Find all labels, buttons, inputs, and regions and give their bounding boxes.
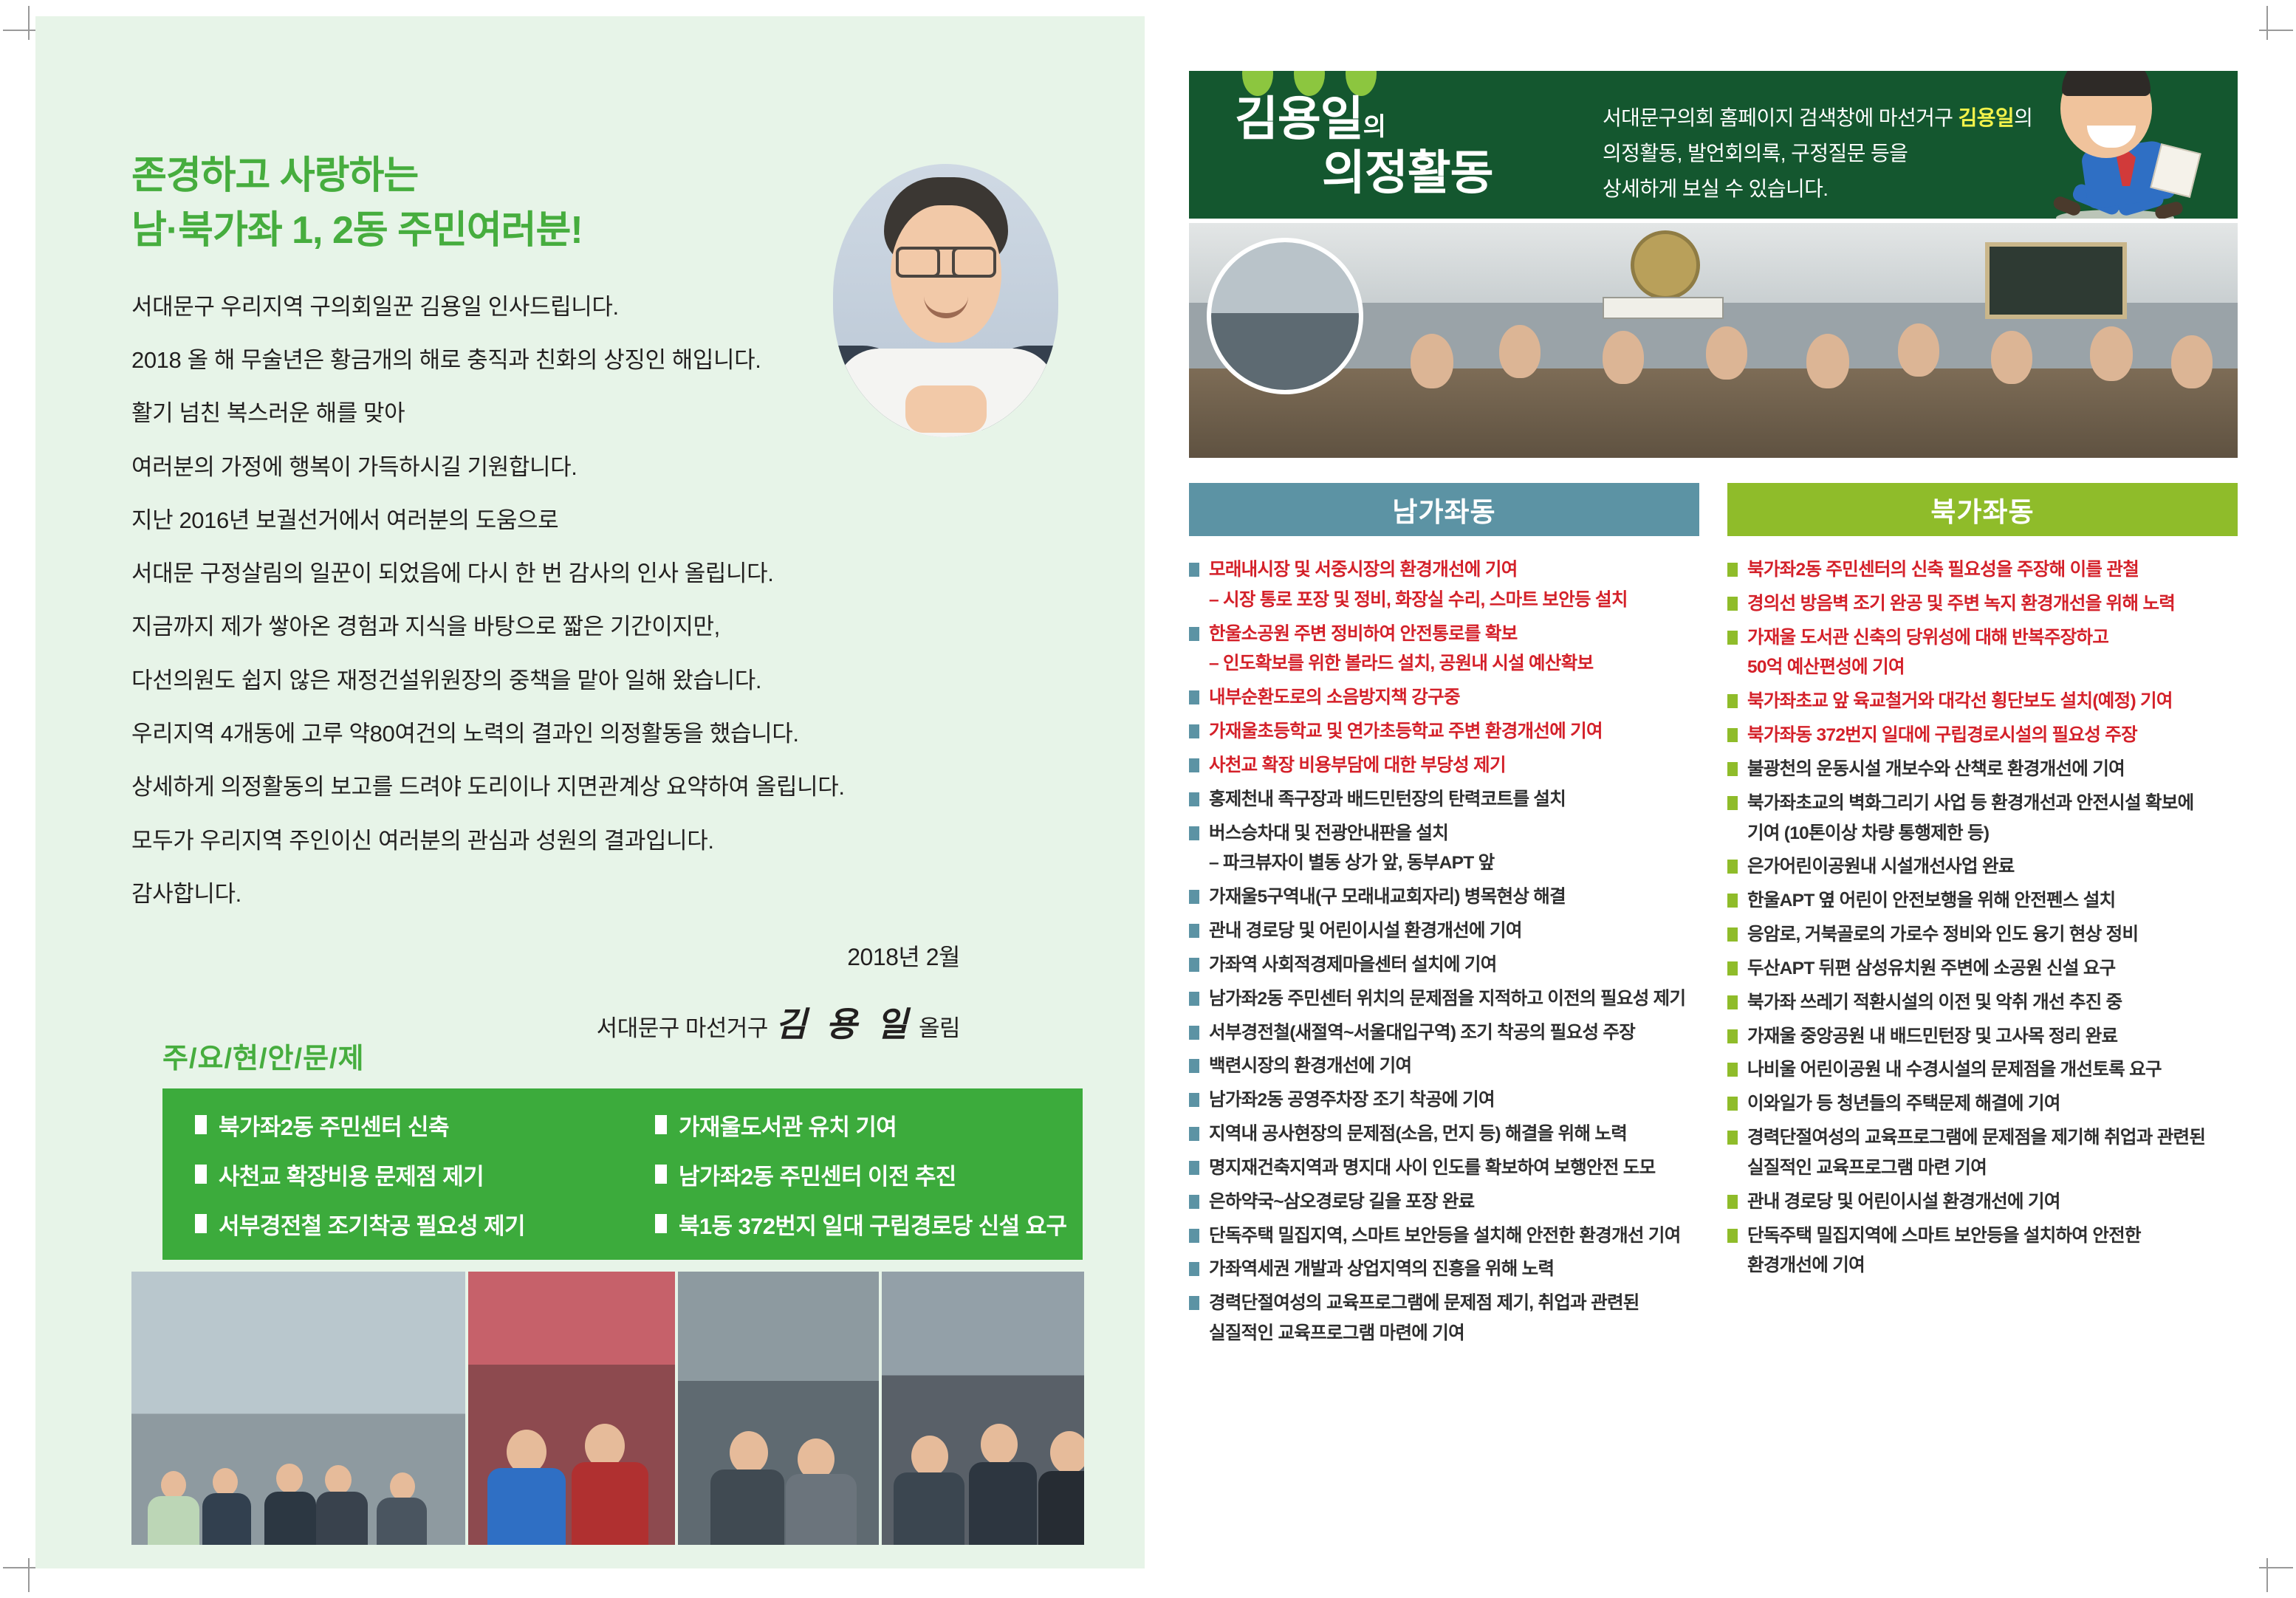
bullet-square-icon: [1189, 890, 1199, 904]
namgajwa-achievement-item: 남가좌2동 주민센터 위치의 문제점을 지적하고 이전의 필요성 제기: [1189, 987, 1699, 1012]
council-member: [1991, 331, 2032, 384]
namgajwa-achievement-item: 관내 경로당 및 어린이시설 환경개선에 기여: [1189, 919, 1699, 944]
namgajwa-achievement-label: 지역내 공사현장의 문제점(소음, 먼지 등) 해결을 위해 노력: [1209, 1122, 1627, 1147]
bukgajwa-achievement-label: 가재울 도서관 신축의 당위성에 대해 반복주장하고: [1747, 626, 2108, 651]
namgajwa-achievement-item: 홍제천내 족구장과 배드민턴장의 탄력코트를 설치: [1189, 788, 1699, 812]
bukgajwa-achievement-label: 북가좌초교 앞 육교철거와 대각선 횡단보도 설치(예정) 기여: [1747, 690, 2173, 714]
crop-mark: [3, 30, 37, 31]
letter-line: 여러분의 가정에 행복이 가득하시길 기원합니다.: [131, 453, 1047, 482]
page-title: 존경하고 사랑하는 남·북가좌 1, 2동 주민여러분!: [131, 149, 1047, 258]
banner-title-particle: 의: [1363, 113, 1385, 141]
namgajwa-achievement-item: 모래내시장 및 서중시장의 환경개선에 기여: [1189, 558, 1699, 583]
bullet-square-icon: [1189, 1229, 1199, 1243]
person-head: [1050, 1431, 1084, 1474]
bukgajwa-achievement-label: 불광천의 운동시설 개보수와 산책로 환경개선에 기여: [1747, 758, 2125, 782]
issue-label: 북1동 372번지 일대 구립경로당 신설 요구: [679, 1207, 1066, 1241]
bullet-square-icon: [1727, 1229, 1738, 1243]
council-member: [1706, 326, 1747, 380]
bukgajwa-achievement-label: 응암로, 거북골로의 가로수 정비와 인도 융기 현상 정비: [1747, 923, 2138, 947]
speaker-inset-photo: [1207, 238, 1363, 394]
issue-item: 남가좌2동 주민센터 이전 추진: [623, 1150, 1083, 1199]
council-session-photo: [1189, 223, 2238, 458]
issue-label: 북가좌2동 주민센터 신축: [219, 1108, 449, 1142]
bullet-square-icon: [195, 1115, 207, 1134]
council-desks: [1189, 368, 2238, 458]
bukgajwa-achievement-item: 응암로, 거북골로의 가로수 정비와 인도 융기 현상 정비: [1727, 923, 2238, 947]
namgajwa-achievement-label: 백련시장의 환경개선에 기여: [1209, 1055, 1411, 1079]
person-torso: [969, 1462, 1037, 1545]
banner-title-name: 김용일: [1235, 92, 1363, 145]
letter-line: 모두가 우리지역 주인이신 여러분의 관심과 성원의 결과입니다.: [131, 826, 1047, 856]
letter-line: 다선의원도 쉽지 않은 재정건설위원장의 중책을 맡아 일해 왔습니다.: [131, 666, 1047, 696]
bukgajwa-achievement-label: 경력단절여성의 교육프로그램에 문제점을 제기해 취업과 관련된: [1747, 1126, 2205, 1151]
bukgajwa-achievement-label: 가재울 중앙공원 내 배드민턴장 및 고사목 정리 완료: [1747, 1025, 2117, 1049]
person-head: [213, 1468, 238, 1496]
bukgajwa-achievement-label: 나비울 어린이공원 내 수경시설의 문제점을 개선토록 요구: [1747, 1058, 2162, 1083]
desc-part-1: 서대문구의회 홈페이지 검색창에 마선거구: [1603, 106, 1959, 129]
namgajwa-achievement-item: 은하약국~삼오경로당 길을 포장 완료: [1189, 1190, 1699, 1215]
person-head: [390, 1472, 415, 1501]
bullet-square-icon: [1727, 894, 1738, 908]
council-member: [1411, 334, 1453, 388]
namgajwa-achievement-item: 사천교 확장 비용부담에 대한 부당성 제기: [1189, 754, 1699, 778]
bullet-square-icon: [1727, 1029, 1738, 1043]
issue-item: 사천교 확장비용 문제점 제기: [162, 1150, 623, 1199]
namgajwa-achievement-subline: – 시장 통로 포장 및 정비, 화장실 수리, 스마트 보안등 설치: [1189, 589, 1699, 613]
report-banner: 김용일의 의정활동 서대문구의회 홈페이지 검색창에 마선거구 김용일의 의정활…: [1189, 71, 2238, 219]
namgajwa-achievement-label: 명지재건축지역과 명지대 사이 인도를 확보하여 보행안전 도모: [1209, 1156, 1655, 1181]
council-nameplate: [1603, 297, 1724, 319]
council-member: [2171, 335, 2213, 388]
signature-block: 2018년 2월 서대문구 마선거구김 용 일올림: [131, 939, 1047, 1046]
namgajwa-achievement-label: 서부경전철(새절역~서울대입구역) 조기 착공의 필요성 주장: [1209, 1021, 1635, 1046]
namgajwa-achievement-item: 지역내 공사현장의 문제점(소음, 먼지 등) 해결을 위해 노력: [1189, 1122, 1699, 1147]
signature-prefix: 서대문구 마선거구: [597, 1015, 768, 1041]
namgajwa-achievement-item: 한울소공원 주변 정비하여 안전통로를 확보: [1189, 623, 1699, 647]
namgajwa-achievement-item: 가좌역 사회적경제마을센터 설치에 기여: [1189, 953, 1699, 978]
person-head: [585, 1424, 625, 1468]
council-member: [1806, 334, 1849, 388]
namgajwa-achievement-subline: – 인도확보를 위한 볼라드 설치, 공원내 시설 예산확보: [1189, 652, 1699, 676]
crop-mark: [2266, 6, 2268, 40]
namgajwa-achievement-item: 가좌역세권 개발과 상업지역의 진흥을 위해 노력: [1189, 1258, 1699, 1282]
bullet-square-icon: [1727, 860, 1738, 874]
crop-mark: [3, 1567, 37, 1568]
bullet-square-icon: [1727, 1195, 1738, 1209]
issue-label: 서부경전철 조기착공 필요성 제기: [219, 1207, 525, 1241]
namgajwa-achievement-list: 모래내시장 및 서중시장의 환경개선에 기여– 시장 통로 포장 및 정비, 화…: [1189, 558, 1699, 1356]
bullet-square-icon: [1189, 563, 1199, 577]
person-torso: [316, 1492, 368, 1545]
activity-report-panel: 김용일의 의정활동 서대문구의회 홈페이지 검색창에 마선거구 김용일의 의정활…: [1189, 71, 2238, 1356]
bukgajwa-achievement-subline: 50억 예산편성에 기여: [1727, 656, 2238, 680]
bullet-square-icon: [1189, 627, 1199, 641]
person-torso: [148, 1496, 199, 1545]
issue-item: 가재울도서관 유치 기여: [623, 1100, 1083, 1150]
bullet-square-icon: [1727, 995, 1738, 1009]
bullet-square-icon: [1189, 690, 1199, 704]
bukgajwa-achievement-label: 북가좌초교의 벽화그리기 사업 등 환경개선과 안전시설 확보에: [1747, 792, 2193, 816]
namgajwa-achievement-label: 홍제천내 족구장과 배드민턴장의 탄력코트를 설치: [1209, 788, 1566, 812]
bullet-square-icon: [1189, 1262, 1199, 1276]
person-torso: [1038, 1471, 1084, 1545]
district-header-namgajwa: 남가좌동: [1189, 483, 1699, 536]
crop-mark: [28, 1558, 30, 1592]
bukgajwa-achievement-item: 북가좌 쓰레기 적환시설의 이전 및 악취 개선 추진 중: [1727, 991, 2238, 1015]
namgajwa-achievement-label: 관내 경로당 및 어린이시설 환경개선에 기여: [1209, 919, 1522, 944]
person-torso: [786, 1474, 857, 1545]
greeting-panel: 존경하고 사랑하는 남·북가좌 1, 2동 주민여러분! 서대문구 우리지역 구…: [35, 16, 1145, 1568]
signature-date: 2018년 2월: [131, 939, 960, 973]
namgajwa-achievement-label: 남가좌2동 주민센터 위치의 문제점을 지적하고 이전의 필요성 제기: [1209, 987, 1685, 1012]
bukgajwa-achievement-label: 관내 경로당 및 어린이시설 환경개선에 기여: [1747, 1190, 2060, 1215]
letter-line: 지난 2016년 보궐선거에서 여러분의 도움으로: [131, 506, 1047, 535]
bullet-square-icon: [1727, 631, 1738, 645]
bukgajwa-achievement-item: 경력단절여성의 교육프로그램에 문제점을 제기해 취업과 관련된: [1727, 1126, 2238, 1151]
namgajwa-achievement-item: 단독주택 밀집지역, 스마트 보안등을 설치해 안전한 환경개선 기여: [1189, 1224, 1699, 1249]
signature-name: 김 용 일: [768, 1004, 919, 1044]
bullet-square-icon: [1189, 1059, 1199, 1073]
issue-label: 남가좌2동 주민센터 이전 추진: [679, 1158, 956, 1191]
bukgajwa-achievement-label: 은가어린이공원내 시설개선사업 완료: [1747, 855, 2015, 879]
bullet-square-icon: [1727, 563, 1738, 577]
person-head: [981, 1424, 1018, 1465]
bullet-square-icon: [1189, 758, 1199, 772]
bukgajwa-achievement-label: 북가좌동 372번지 일대에 구립경로시설의 필요성 주장: [1747, 724, 2137, 748]
namgajwa-achievement-label: 남가좌2동 공영주차장 조기 착공에 기여: [1209, 1088, 1495, 1113]
person-torso: [572, 1462, 648, 1545]
issues-section-title: 주/요/현/안/문/제: [162, 1035, 365, 1076]
signature-suffix: 올림: [919, 1015, 960, 1041]
bullet-square-icon: [1727, 597, 1738, 611]
bukgajwa-achievement-item: 이와일가 등 청년들의 주택문제 해결에 기여: [1727, 1092, 2238, 1117]
namgajwa-achievement-subline: – 파크뷰자이 별동 상가 앞, 동부APT 앞: [1189, 851, 1699, 876]
bullet-square-icon: [1189, 826, 1199, 840]
politician-caricature: [1991, 71, 2213, 219]
crop-mark: [28, 6, 30, 40]
banner-title: 김용일의 의정활동: [1235, 95, 1493, 198]
person-torso: [202, 1493, 251, 1545]
letter-line: 상세하게 의정활동의 보고를 드려야 도리이나 지면관계상 요약하여 올립니다.: [131, 772, 1047, 802]
crop-mark: [2259, 1567, 2293, 1568]
bullet-square-icon: [1189, 792, 1199, 806]
bukgajwa-achievement-label: 이와일가 등 청년들의 주택문제 해결에 기여: [1747, 1092, 2060, 1117]
bukgajwa-achievement-item: 한울APT 옆 어린이 안전보행을 위해 안전펜스 설치: [1727, 889, 2238, 913]
person-torso: [377, 1498, 427, 1545]
greeting-letter: 존경하고 사랑하는 남·북가좌 1, 2동 주민여러분! 서대문구 우리지역 구…: [131, 149, 1047, 1046]
person-torso: [710, 1470, 784, 1545]
bullet-square-icon: [195, 1214, 207, 1233]
bullet-square-icon: [1727, 1063, 1738, 1077]
bukgajwa-achievement-item: 불광천의 운동시설 개보수와 산책로 환경개선에 기여: [1727, 758, 2238, 782]
namgajwa-achievement-label: 내부순환도로의 소음방지책 강구중: [1209, 686, 1460, 710]
person-head: [507, 1430, 546, 1474]
namgajwa-achievement-item: 서부경전철(새절역~서울대입구역) 조기 착공의 필요성 주장: [1189, 1021, 1699, 1046]
namgajwa-achievement-item: 버스승차대 및 전광안내판을 설치: [1189, 822, 1699, 846]
bullet-square-icon: [1727, 694, 1738, 708]
crop-mark: [2266, 1558, 2268, 1592]
bukgajwa-achievement-label: 두산APT 뒤편 삼성유치원 주변에 소공원 신설 요구: [1747, 957, 2116, 981]
bullet-square-icon: [1189, 1161, 1199, 1175]
bullet-square-icon: [1189, 958, 1199, 972]
bukgajwa-achievement-list: 북가좌2동 주민센터의 신축 필요성을 주장해 이를 관철경의선 방음벽 조기 …: [1727, 558, 2238, 1356]
achievement-lists: 모래내시장 및 서중시장의 환경개선에 기여– 시장 통로 포장 및 정비, 화…: [1189, 558, 2238, 1356]
bullet-square-icon: [1727, 927, 1738, 942]
salutation-line-1: 존경하고 사랑하는: [131, 154, 418, 197]
bukgajwa-achievement-subline: 환경개선에 기여: [1727, 1254, 2238, 1278]
namgajwa-achievement-label: 가좌역 사회적경제마을센터 설치에 기여: [1209, 953, 1497, 978]
person-torso: [894, 1472, 964, 1545]
bukgajwa-achievement-item: 북가좌초교의 벽화그리기 사업 등 환경개선과 안전시설 확보에: [1727, 792, 2238, 816]
bullet-square-icon: [195, 1165, 207, 1184]
bullet-square-icon: [1189, 1195, 1199, 1209]
bukgajwa-achievement-item: 단독주택 밀집지역에 스마트 보안등을 설치하여 안전한: [1727, 1224, 2238, 1249]
namgajwa-achievement-item: 내부순환도로의 소음방지책 강구중: [1189, 686, 1699, 710]
namgajwa-achievement-item: 백련시장의 환경개선에 기여: [1189, 1055, 1699, 1079]
letter-line: 활기 넘친 복스러운 해를 맞아: [131, 399, 1047, 428]
bullet-square-icon: [1189, 1127, 1199, 1141]
person-head: [911, 1436, 948, 1477]
namgajwa-achievement-label: 버스승차대 및 전광안내판을 설치: [1209, 822, 1448, 846]
caricature-hair: [2062, 71, 2151, 96]
letter-line: 2018 올 해 무술년은 황금개의 해로 충직과 친화의 상징인 해입니다.: [131, 346, 1047, 375]
bullet-square-icon: [1189, 992, 1199, 1006]
bukgajwa-achievement-item: 북가좌초교 앞 육교철거와 대각선 횡단보도 설치(예정) 기여: [1727, 690, 2238, 714]
activity-photo-indoor-meeting: [678, 1272, 879, 1545]
namgajwa-achievement-item: 명지재건축지역과 명지대 사이 인도를 확보하여 보행안전 도모: [1189, 1156, 1699, 1181]
letter-line: 지금까지 제가 쌓아온 경험과 지식을 바탕으로 짧은 기간이지만,: [131, 612, 1047, 642]
brochure-page: 존경하고 사랑하는 남·북가좌 1, 2동 주민여러분! 서대문구 우리지역 구…: [0, 0, 2296, 1598]
bukgajwa-achievement-label: 단독주택 밀집지역에 스마트 보안등을 설치하여 안전한: [1747, 1224, 2141, 1249]
council-member: [1499, 325, 1541, 378]
banner-title-subject: 의정활동: [1235, 148, 1493, 198]
namgajwa-achievement-label: 가재울5구역내(구 모래내교회자리) 병목현상 해결: [1209, 885, 1566, 910]
activity-photo-street-walk: [131, 1272, 465, 1545]
issue-label: 가재울도서관 유치 기여: [679, 1108, 897, 1142]
key-issues-box: 북가좌2동 주민센터 신축 가재울도서관 유치 기여 사천교 확장비용 문제점 …: [162, 1088, 1083, 1260]
namgajwa-achievement-label: 은하약국~삼오경로당 길을 포장 완료: [1209, 1190, 1475, 1215]
issue-label: 사천교 확장비용 문제점 제기: [219, 1158, 484, 1191]
namgajwa-achievement-item: 남가좌2동 공영주차장 조기 착공에 기여: [1189, 1088, 1699, 1113]
desc-line-2: 의정활동, 발언회의록, 구정질문 등을: [1603, 142, 1908, 165]
namgajwa-achievement-item: 가재울초등학교 및 연가초등학교 주변 환경개선에 기여: [1189, 720, 1699, 744]
bullet-square-icon: [655, 1165, 667, 1184]
bukgajwa-achievement-item: 경의선 방음벽 조기 완공 및 주변 녹지 환경개선을 위해 노력: [1727, 592, 2238, 617]
namgajwa-achievement-label: 사천교 확장 비용부담에 대한 부당성 제기: [1209, 754, 1506, 778]
bullet-square-icon: [1189, 924, 1199, 938]
bukgajwa-achievement-item: 관내 경로당 및 어린이시설 환경개선에 기여: [1727, 1190, 2238, 1215]
council-display-board: [1985, 242, 2127, 319]
letter-line: 서대문구 우리지역 구의회일꾼 김용일 인사드립니다.: [131, 292, 1047, 322]
person-head: [325, 1465, 352, 1495]
bukgajwa-achievement-item: 가재울 중앙공원 내 배드민턴장 및 고사목 정리 완료: [1727, 1025, 2238, 1049]
letter-line: 우리지역 4개동에 고루 약80여건의 노력의 결과인 의정활동을 했습니다.: [131, 719, 1047, 749]
activity-photo-market-visit: [468, 1272, 675, 1545]
council-member: [1603, 331, 1644, 384]
bukgajwa-achievement-subline: 실질적인 교육프로그램 마련 기여: [1727, 1156, 2238, 1181]
person-head: [161, 1471, 186, 1499]
namgajwa-achievement-label: 가좌역세권 개발과 상업지역의 진흥을 위해 노력: [1209, 1258, 1554, 1282]
namgajwa-achievement-label: 모래내시장 및 서중시장의 환경개선에 기여: [1209, 558, 1518, 583]
activity-photo-handshake: [882, 1272, 1084, 1545]
person-torso: [487, 1468, 566, 1545]
bukgajwa-achievement-item: 나비울 어린이공원 내 수경시설의 문제점을 개선토록 요구: [1727, 1058, 2238, 1083]
bullet-square-icon: [1727, 762, 1738, 776]
salutation-line-2: 남·북가좌 1, 2동 주민여러분!: [131, 204, 1047, 258]
desc-line-3: 상세하게 보실 수 있습니다.: [1603, 177, 1828, 200]
namgajwa-achievement-label: 단독주택 밀집지역, 스마트 보안등을 설치해 안전한 환경개선 기여: [1209, 1224, 1681, 1249]
council-emblem-icon: [1631, 230, 1700, 300]
letter-body: 서대문구 우리지역 구의회일꾼 김용일 인사드립니다. 2018 올 해 무술년…: [131, 292, 1047, 910]
namgajwa-achievement-label: 한울소공원 주변 정비하여 안전통로를 확보: [1209, 623, 1518, 647]
bukgajwa-achievement-label: 경의선 방음벽 조기 완공 및 주변 녹지 환경개선을 위해 노력: [1747, 592, 2175, 617]
bullet-square-icon: [1727, 961, 1738, 975]
activity-photo-strip: [131, 1272, 1084, 1545]
council-member: [2090, 326, 2133, 381]
letter-line: 감사합니다.: [131, 879, 1047, 909]
district-header-bukgajwa: 북가좌동: [1727, 483, 2238, 536]
bullet-square-icon: [655, 1214, 667, 1233]
person-torso: [264, 1492, 316, 1545]
namgajwa-achievement-label: 경력단절여성의 교육프로그램에 문제점 제기, 취업과 관련된: [1209, 1292, 1639, 1316]
letter-line: 서대문 구정살림의 일꾼이 되었음에 다시 한 번 감사의 인사 올립니다.: [131, 559, 1047, 589]
bullet-square-icon: [1727, 1131, 1738, 1145]
issue-item: 북가좌2동 주민센터 신축: [162, 1100, 623, 1150]
bukgajwa-achievement-label: 한울APT 옆 어린이 안전보행을 위해 안전펜스 설치: [1747, 889, 2116, 913]
namgajwa-achievement-item: 가재울5구역내(구 모래내교회자리) 병목현상 해결: [1189, 885, 1699, 910]
bukgajwa-achievement-item: 두산APT 뒤편 삼성유치원 주변에 소공원 신설 요구: [1727, 957, 2238, 981]
bukgajwa-achievement-label: 북가좌 쓰레기 적환시설의 이전 및 악취 개선 추진 중: [1747, 991, 2122, 1015]
crop-mark: [2259, 30, 2293, 31]
bullet-square-icon: [1189, 1296, 1199, 1310]
person-head: [276, 1464, 303, 1493]
namgajwa-achievement-label: 가재울초등학교 및 연가초등학교 주변 환경개선에 기여: [1209, 720, 1603, 744]
issue-item: 북1동 372번지 일대 구립경로당 신설 요구: [623, 1199, 1083, 1249]
council-member: [1898, 323, 1939, 377]
bukgajwa-achievement-label: 북가좌2동 주민센터의 신축 필요성을 주장해 이를 관철: [1747, 558, 2139, 583]
bukgajwa-achievement-item: 가재울 도서관 신축의 당위성에 대해 반복주장하고: [1727, 626, 2238, 651]
bukgajwa-achievement-subline: 기여 (10톤이상 차량 통행제한 등): [1727, 822, 2238, 846]
person-head: [730, 1431, 768, 1474]
district-headers: 남가좌동 북가좌동: [1189, 483, 2238, 536]
bullet-square-icon: [1189, 724, 1199, 738]
bullet-square-icon: [1189, 1093, 1199, 1107]
bukgajwa-achievement-item: 북가좌2동 주민센터의 신축 필요성을 주장해 이를 관철: [1727, 558, 2238, 583]
bullet-square-icon: [1727, 796, 1738, 810]
bullet-square-icon: [1727, 1097, 1738, 1111]
bukgajwa-achievement-item: 은가어린이공원내 시설개선사업 완료: [1727, 855, 2238, 879]
bullet-square-icon: [1189, 1026, 1199, 1040]
bullet-square-icon: [655, 1115, 667, 1134]
issue-item: 서부경전철 조기착공 필요성 제기: [162, 1199, 623, 1249]
bullet-square-icon: [1727, 728, 1738, 742]
bukgajwa-achievement-item: 북가좌동 372번지 일대에 구립경로시설의 필요성 주장: [1727, 724, 2238, 748]
namgajwa-achievement-item: 경력단절여성의 교육프로그램에 문제점 제기, 취업과 관련된: [1189, 1292, 1699, 1316]
namgajwa-achievement-subline: 실질적인 교육프로그램 마련에 기여: [1189, 1322, 1699, 1346]
